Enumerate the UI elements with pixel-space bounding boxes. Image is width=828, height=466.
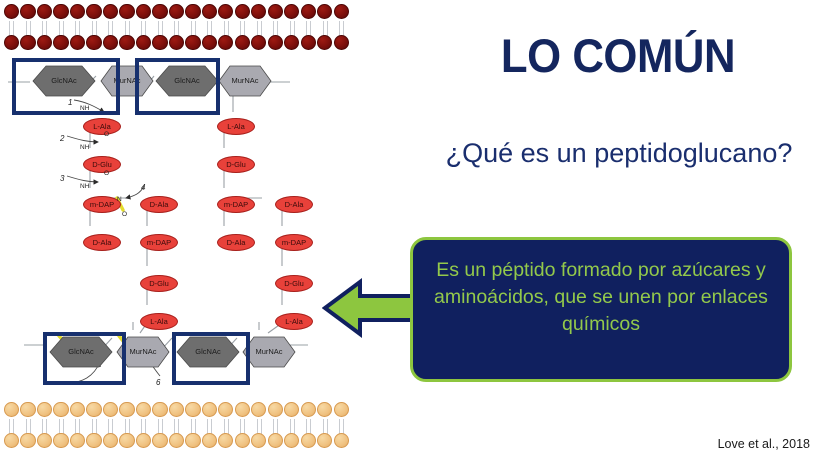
aminoacid-node: D-Glu — [217, 156, 255, 173]
atom-label: O — [104, 170, 109, 177]
subtitle-question: ¿Qué es un peptidoglucano? — [428, 136, 810, 171]
aminoacid-node: D-Ala — [275, 196, 313, 213]
atom-label: N — [117, 196, 122, 203]
atom-label: NH — [80, 183, 89, 190]
aminoacid-node: L-Ala — [140, 313, 178, 330]
aminoacid-node: D-Glu — [83, 156, 121, 173]
page-title: LO COMÚN — [432, 28, 804, 83]
step-number: 3 — [60, 174, 64, 183]
aminoacid-node: D-Ala — [217, 234, 255, 251]
aminoacid-node: L-Ala — [83, 118, 121, 135]
murnac-hexagon — [219, 66, 271, 96]
step-number: 6 — [156, 378, 160, 387]
atom-label: O — [104, 131, 109, 138]
aminoacid-node: D-Glu — [140, 275, 178, 292]
atom-label: O — [122, 211, 127, 218]
aminoacid-node: m-DAP — [83, 196, 121, 213]
glcnac-highlight-bottom-left — [43, 332, 126, 385]
glcnac-highlight-bottom-right — [172, 332, 250, 385]
atom-label: NH — [80, 144, 89, 151]
glcnac-highlight-top-left — [12, 58, 120, 115]
source-citation: Love et al., 2018 — [640, 437, 810, 451]
aminoacid-node: D-Glu — [275, 275, 313, 292]
green-left-arrow — [322, 276, 420, 340]
glcnac-highlight-top-right — [135, 58, 220, 115]
aminoacid-node: m-DAP — [217, 196, 255, 213]
step-number: 4 — [141, 183, 145, 192]
aminoacid-node: L-Ala — [275, 313, 313, 330]
aminoacid-node: m-DAP — [275, 234, 313, 251]
murnac-hexagon — [243, 337, 295, 367]
definition-callout-text: Es un péptido formado por azúcares y ami… — [431, 257, 771, 338]
definition-callout-box: Es un péptido formado por azúcares y ami… — [410, 237, 792, 382]
step-number: 2 — [60, 134, 64, 143]
peptidoglycan-diagram: GlcNAcMurNAcGlcNAcMurNAcGlcNAcMurNAcGlcN… — [0, 0, 418, 466]
aminoacid-node: m-DAP — [140, 234, 178, 251]
aminoacid-node: L-Ala — [217, 118, 255, 135]
aminoacid-node: D-Ala — [83, 234, 121, 251]
slide-root: GlcNAcMurNAcGlcNAcMurNAcGlcNAcMurNAcGlcN… — [0, 0, 828, 466]
aminoacid-node: D-Ala — [140, 196, 178, 213]
